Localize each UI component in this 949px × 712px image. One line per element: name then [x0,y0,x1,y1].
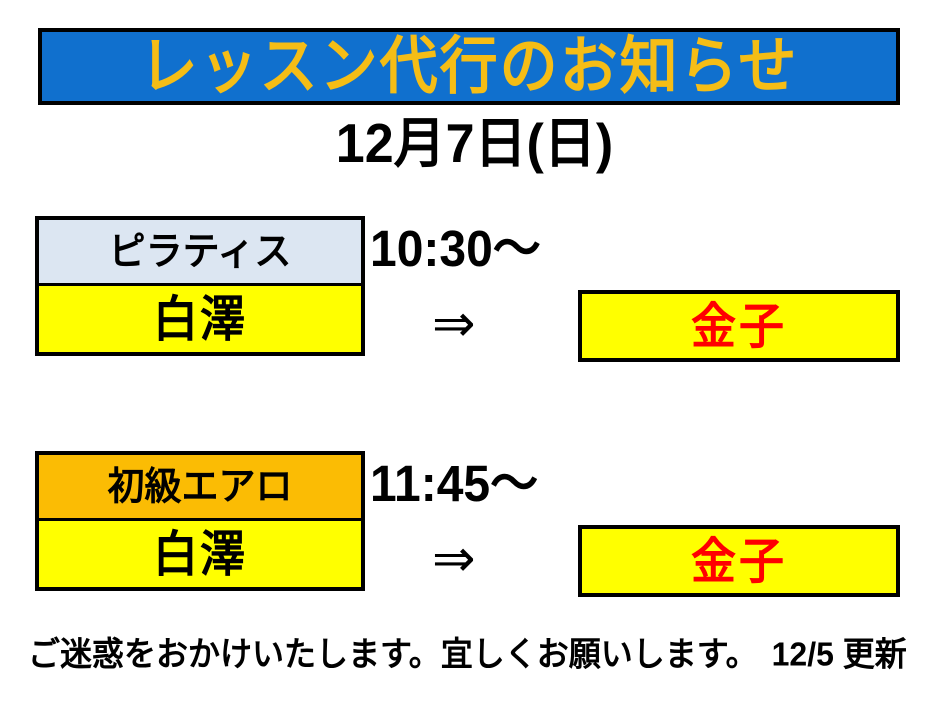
class-name-cell-1: ピラティス [39,220,361,286]
lesson-time-1: 10:30〜 [370,225,541,276]
lesson-table-2: 初級エアロ 白澤 [35,451,365,591]
substitute-instructor-label: 金子 [691,302,787,351]
substitution-arrow-icon: ⇒ [432,298,476,350]
lesson-date: 12月7日(日) [336,117,613,172]
footer: ご迷惑をおかけいたします。宜しくお願いします。12/5 更新 [28,638,921,670]
substitute-instructor-label: 金子 [691,537,787,586]
substitute-instructor-box-2: 金子 [578,525,900,597]
lesson-entry-2: 初級エアロ 白澤 11:45〜 ⇒ 金子 [0,445,949,605]
class-name-cell-2: 初級エアロ [39,455,361,521]
lesson-table-1: ピラティス 白澤 [35,216,365,356]
page-title: レッスン代行のお知らせ [140,35,799,98]
lesson-entry-1: ピラティス 白澤 10:30〜 ⇒ 金子 [0,210,949,370]
class-name-label: ピラティス [109,232,292,271]
update-date: 12/5 更新 [772,637,907,671]
original-instructor-label: 白澤 [153,295,247,344]
date-row: 12月7日(日) [0,118,949,170]
class-name-label: 初級エアロ [108,467,293,506]
lesson-time-2: 11:45〜 [370,460,538,511]
original-instructor-cell-2: 白澤 [39,521,361,587]
notice-page: レッスン代行のお知らせ 12月7日(日) ピラティス 白澤 10:30〜 ⇒ 金… [0,0,949,712]
substitute-instructor-box-1: 金子 [578,290,900,362]
apology-note: ご迷惑をおかけいたします。宜しくお願いします。 [28,637,758,671]
original-instructor-cell-1: 白澤 [39,286,361,352]
title-banner: レッスン代行のお知らせ [38,28,900,105]
original-instructor-label: 白澤 [153,530,247,579]
substitution-arrow-icon: ⇒ [432,533,476,585]
